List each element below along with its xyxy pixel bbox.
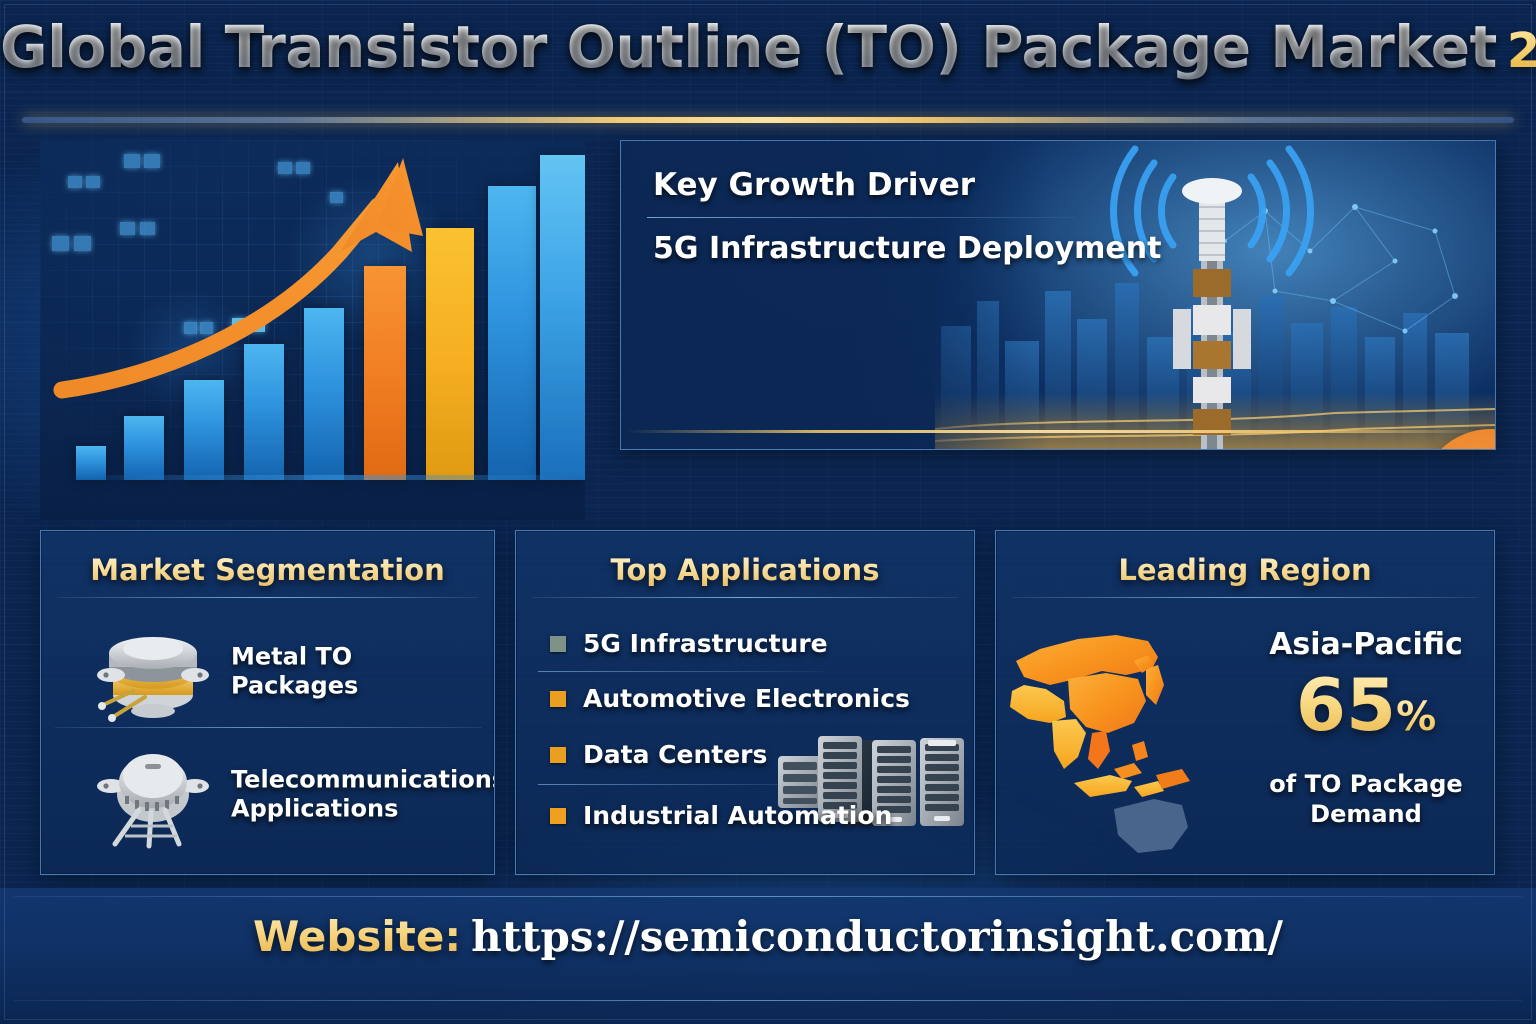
market-segmentation-title: Market Segmentation — [41, 553, 494, 587]
application-label: Data Centers — [583, 740, 767, 769]
infographic-canvas: Global Transistor Outline (TO) Package M… — [0, 0, 1536, 1024]
panel-divider — [1012, 597, 1478, 598]
page-title-main: Global Transistor Outline (TO) Package M… — [0, 13, 1497, 81]
percent-symbol: % — [1396, 694, 1436, 740]
leading-region-percent-number: 65 — [1296, 663, 1396, 747]
market-segmentation-panel: Market Segmentation — [40, 530, 495, 875]
segmentation-item-label: Metal TO Packages — [231, 643, 481, 702]
website-url[interactable]: https://semiconductorinsight.com/ — [471, 912, 1283, 961]
leading-region-percent: 65% — [1244, 669, 1488, 741]
panel-divider — [532, 597, 958, 598]
footer: Website:https://semiconductorinsight.com… — [0, 888, 1536, 1024]
application-item[interactable]: 5G Infrastructure — [550, 629, 828, 658]
page-title: Global Transistor Outline (TO) Package M… — [0, 18, 1536, 76]
application-label: Automotive Electronics — [583, 684, 910, 713]
bullet-icon — [550, 636, 566, 652]
leading-region-subtext-line2: Demand — [1244, 799, 1488, 829]
website-label: Website: — [253, 912, 461, 961]
leading-region-panel: Leading Region — [995, 530, 1495, 875]
market-growth-chart: CAGR: 5.21% USD 1.38 Billion 2022 — [40, 140, 585, 520]
growth-arrow-icon — [40, 140, 585, 485]
page-title-years: 2026~2034 — [1507, 23, 1536, 79]
key-growth-driver-panel: Key Growth Driver 5G Infrastructure Depl… — [620, 140, 1496, 450]
panel-divider — [57, 597, 478, 598]
application-item[interactable]: Automotive Electronics — [550, 684, 910, 713]
leading-region-title: Leading Region — [996, 553, 1494, 587]
bullet-icon — [550, 747, 566, 763]
leading-region-subtext: of TO Package Demand — [1244, 769, 1488, 829]
leading-region-name: Asia-Pacific — [1244, 627, 1488, 662]
leading-region-subtext-line1: of TO Package — [1244, 769, 1488, 799]
application-label: 5G Infrastructure — [583, 629, 828, 658]
application-label: Industrial Automation — [583, 801, 892, 830]
growth-driver-divider — [647, 217, 1077, 218]
application-item[interactable]: Data Centers — [550, 740, 767, 769]
map-container — [1006, 609, 1246, 859]
metal-to-package-icon — [93, 619, 213, 727]
asia-pacific-map-icon — [1006, 609, 1246, 859]
segmentation-item-label: Telecommunications Applications — [231, 766, 481, 825]
growth-driver-title: Key Growth Driver — [653, 167, 975, 203]
bullet-icon — [550, 808, 566, 824]
header: Global Transistor Outline (TO) Package M… — [0, 18, 1536, 118]
segmentation-row-divider — [55, 727, 482, 728]
top-applications-panel: Top Applications — [515, 530, 975, 875]
title-divider — [22, 117, 1514, 123]
top-applications-title: Top Applications — [516, 553, 974, 587]
segmentation-item[interactable]: Metal TO Packages — [55, 613, 482, 731]
bullet-icon — [550, 691, 566, 707]
growth-driver-bottom-rule — [627, 430, 1491, 433]
application-divider — [538, 671, 823, 672]
application-divider — [538, 784, 823, 785]
application-item[interactable]: Industrial Automation — [550, 801, 892, 830]
telecom-to-package-icon — [93, 742, 213, 850]
segmentation-item[interactable]: Telecommunications Applications — [55, 736, 482, 854]
website-line: Website:https://semiconductorinsight.com… — [0, 912, 1536, 961]
growth-driver-subtitle: 5G Infrastructure Deployment — [653, 231, 1161, 266]
